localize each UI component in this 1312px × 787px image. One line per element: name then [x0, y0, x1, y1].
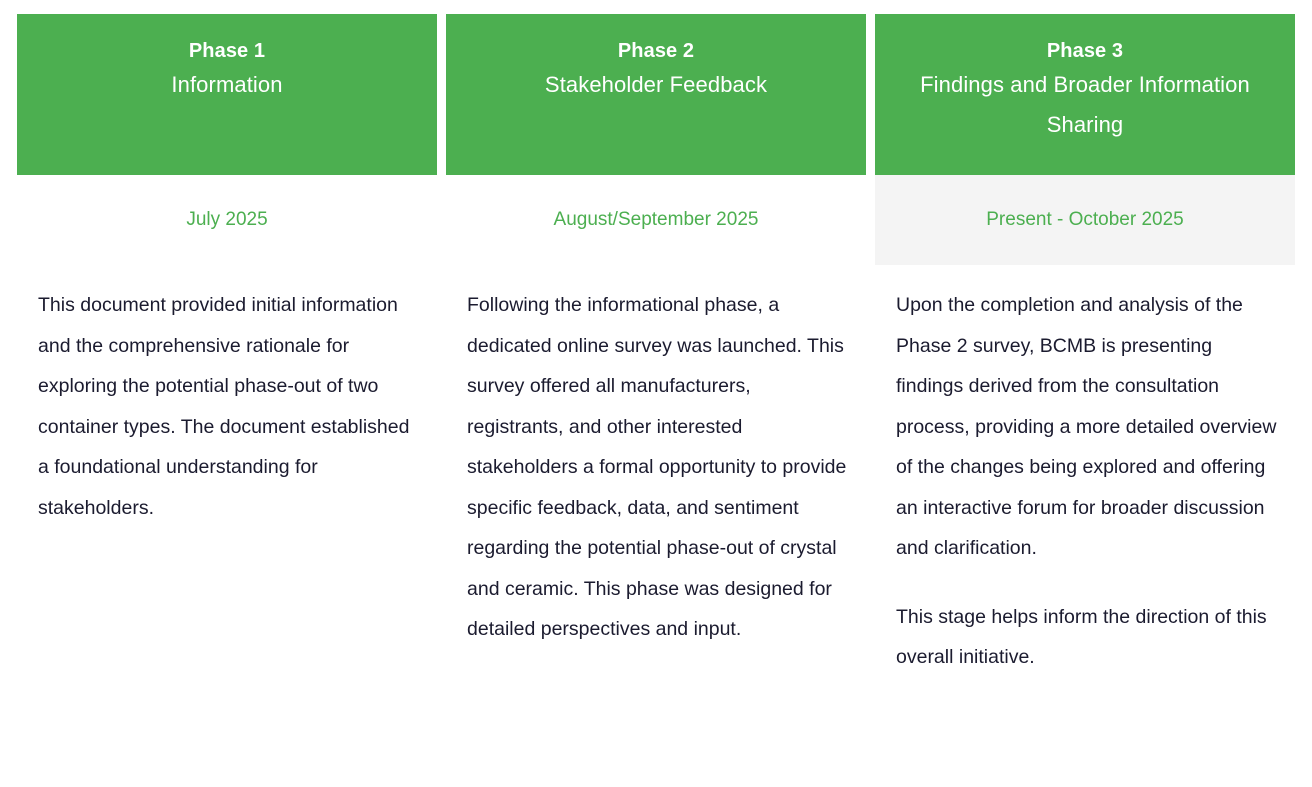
- phase-subtitle-2: Stakeholder Feedback: [460, 65, 852, 105]
- phase-date-2: August/September 2025: [446, 175, 866, 265]
- phase-column-2: Phase 2 Stakeholder Feedback August/Sept…: [446, 14, 866, 650]
- phase-title-2: Phase 2: [460, 38, 852, 65]
- phase-body-2: Following the informational phase, a ded…: [446, 265, 866, 650]
- phase-subtitle-1: Information: [31, 65, 423, 105]
- phase-body-1: This document provided initial informati…: [17, 265, 437, 528]
- phase-paragraph: This document provided initial informati…: [38, 285, 419, 528]
- phase-title-3: Phase 3: [889, 38, 1281, 65]
- phase-paragraph: Following the informational phase, a ded…: [467, 285, 848, 650]
- phase-header-2: Phase 2 Stakeholder Feedback: [446, 14, 866, 175]
- phase-timeline: Phase 1 Information July 2025 This docum…: [17, 14, 1295, 678]
- phase-paragraph: This stage helps inform the direction of…: [896, 597, 1277, 678]
- phase-column-3: Phase 3 Findings and Broader Information…: [875, 14, 1295, 678]
- phase-date-3: Present - October 2025: [875, 175, 1295, 265]
- phase-body-3: Upon the completion and analysis of the …: [875, 265, 1295, 678]
- phase-column-1: Phase 1 Information July 2025 This docum…: [17, 14, 437, 528]
- phase-subtitle-3: Findings and Broader Information Sharing: [889, 65, 1281, 145]
- phase-header-3: Phase 3 Findings and Broader Information…: [875, 14, 1295, 175]
- phase-header-1: Phase 1 Information: [17, 14, 437, 175]
- phase-date-1: July 2025: [17, 175, 437, 265]
- phase-title-1: Phase 1: [31, 38, 423, 65]
- phase-paragraph: Upon the completion and analysis of the …: [896, 285, 1277, 569]
